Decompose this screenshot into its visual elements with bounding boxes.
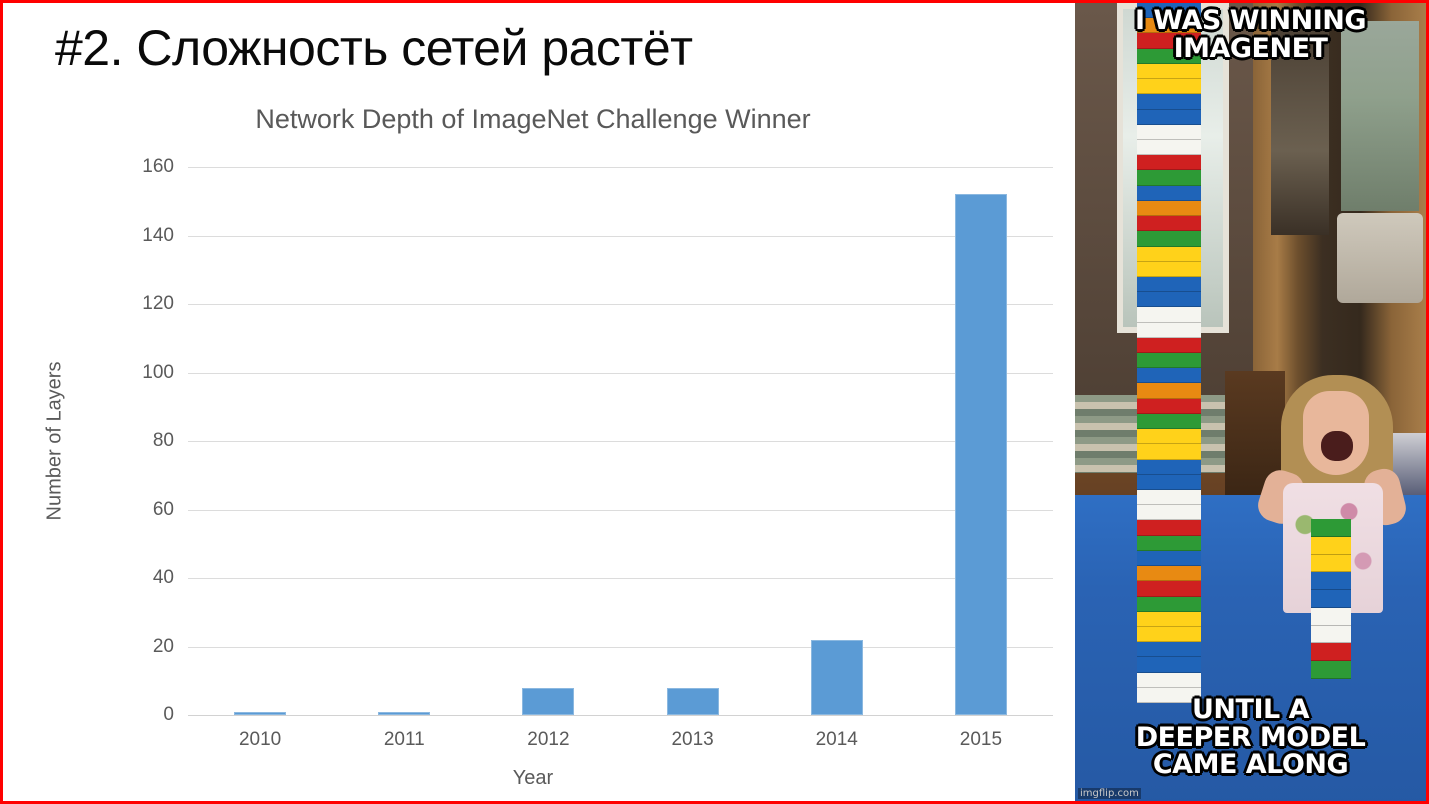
lego-brick (1137, 292, 1201, 307)
gridline-140 (188, 236, 1053, 237)
tall-lego-tower (1137, 3, 1201, 703)
bar-2013[interactable] (667, 688, 719, 715)
lego-brick (1137, 247, 1201, 262)
lego-brick (1137, 444, 1201, 459)
lego-brick (1137, 520, 1201, 535)
lego-brick (1137, 338, 1201, 353)
lego-brick (1311, 537, 1351, 555)
gridline-80 (188, 441, 1053, 442)
x-tick-2012: 2012 (527, 729, 569, 751)
y-tick-40: 40 (153, 567, 174, 589)
girl-crying-mouth (1321, 431, 1353, 461)
y-tick-140: 140 (142, 225, 174, 247)
lego-brick (1311, 643, 1351, 661)
lego-brick (1137, 368, 1201, 383)
meme-image-panel: I WAS WINNING IMAGENET UNTIL A DEEPER MO… (1075, 3, 1426, 801)
lego-brick (1137, 383, 1201, 398)
lego-brick (1137, 612, 1201, 627)
lego-brick (1311, 555, 1351, 573)
lego-brick (1137, 566, 1201, 581)
chart-title: Network Depth of ImageNet Challenge Winn… (3, 104, 1063, 135)
gridline-120 (188, 304, 1053, 305)
lego-brick (1137, 307, 1201, 322)
lego-brick (1137, 140, 1201, 155)
lego-brick (1137, 505, 1201, 520)
lego-brick (1137, 79, 1201, 94)
lego-brick (1137, 581, 1201, 596)
lego-brick (1137, 186, 1201, 201)
lego-brick (1137, 170, 1201, 185)
lego-brick (1311, 519, 1351, 537)
lego-brick (1137, 277, 1201, 292)
lego-brick (1137, 673, 1201, 688)
lego-brick (1311, 661, 1351, 679)
cabinet-dishes (1337, 213, 1423, 303)
imgflip-watermark: imgflip.com (1078, 788, 1141, 799)
lego-brick (1137, 353, 1201, 368)
gridline-40 (188, 578, 1053, 579)
x-tick-2010: 2010 (239, 729, 281, 751)
lego-brick (1137, 551, 1201, 566)
x-tick-2015: 2015 (960, 729, 1002, 751)
lego-brick (1137, 323, 1201, 338)
lego-brick (1137, 460, 1201, 475)
lego-brick (1137, 414, 1201, 429)
bar-2011[interactable] (378, 712, 430, 715)
bar-2014[interactable] (811, 640, 863, 715)
lego-brick (1137, 94, 1201, 109)
lego-brick (1137, 490, 1201, 505)
bar-chart: Network Depth of ImageNet Challenge Winn… (3, 95, 1075, 804)
gridline-20 (188, 647, 1053, 648)
gridline-160 (188, 167, 1053, 168)
meme-bottom-caption: UNTIL A DEEPER MODEL CAME ALONG (1075, 696, 1426, 779)
lego-brick (1311, 626, 1351, 644)
lego-brick (1137, 201, 1201, 216)
lego-brick (1137, 657, 1201, 672)
y-tick-0: 0 (163, 704, 174, 726)
y-tick-100: 100 (142, 362, 174, 384)
lego-brick (1311, 608, 1351, 626)
lego-brick (1311, 572, 1351, 590)
lego-brick (1137, 262, 1201, 277)
lego-brick (1137, 216, 1201, 231)
lego-brick (1137, 64, 1201, 79)
bar-2015[interactable] (955, 194, 1007, 715)
gridline-60 (188, 510, 1053, 511)
meme-photograph (1075, 3, 1426, 801)
lego-brick (1137, 642, 1201, 657)
lego-brick (1137, 627, 1201, 642)
x-axis-label: Year (3, 767, 1063, 790)
lego-brick (1137, 110, 1201, 125)
lego-brick (1137, 536, 1201, 551)
lego-brick (1137, 475, 1201, 490)
slide-title: #2. Сложность сетей растёт (55, 19, 693, 77)
lego-brick (1137, 125, 1201, 140)
y-tick-20: 20 (153, 636, 174, 658)
y-tick-60: 60 (153, 499, 174, 521)
lego-brick (1137, 597, 1201, 612)
lego-brick (1137, 231, 1201, 246)
short-lego-tower (1311, 519, 1351, 679)
gridline-0 (188, 715, 1053, 716)
x-tick-2014: 2014 (816, 729, 858, 751)
lego-brick (1137, 399, 1201, 414)
x-tick-2013: 2013 (671, 729, 713, 751)
meme-top-caption: I WAS WINNING IMAGENET (1075, 7, 1426, 62)
y-tick-160: 160 (142, 156, 174, 178)
lego-brick (1137, 155, 1201, 170)
presentation-slide: #2. Сложность сетей растёт Network Depth… (0, 0, 1429, 804)
y-tick-80: 80 (153, 430, 174, 452)
lego-brick (1137, 429, 1201, 444)
plot-area: 020406080100120140160 201020112012201320… (188, 167, 1053, 715)
x-tick-2011: 2011 (384, 729, 425, 751)
y-tick-120: 120 (142, 293, 174, 315)
gridline-100 (188, 373, 1053, 374)
bar-2012[interactable] (522, 688, 574, 715)
bar-2010[interactable] (234, 712, 286, 715)
y-axis-label: Number of Layers (44, 362, 67, 521)
lego-brick (1311, 590, 1351, 608)
